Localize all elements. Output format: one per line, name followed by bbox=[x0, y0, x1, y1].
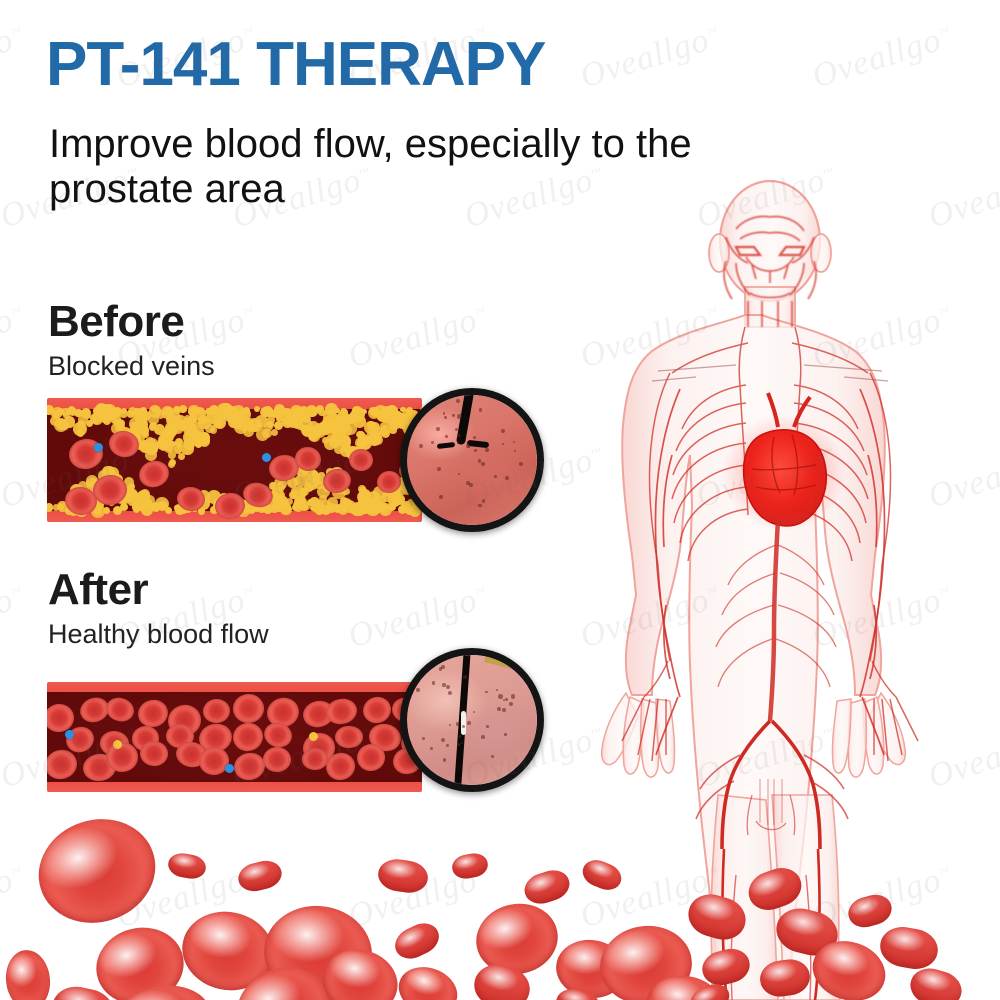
cholesterol-particle bbox=[134, 408, 139, 413]
red-blood-cell bbox=[166, 851, 208, 881]
page-subtitle: Improve blood flow, especially to the pr… bbox=[49, 122, 739, 212]
tissue-speck bbox=[511, 694, 515, 698]
red-blood-cell bbox=[139, 740, 169, 768]
cholesterol-particle bbox=[179, 405, 186, 412]
red-blood-cell bbox=[202, 698, 231, 724]
red-blood-cell bbox=[758, 957, 813, 1000]
infographic-canvas: PT-141 THERAPY Improve blood flow, espec… bbox=[0, 0, 1000, 1000]
cholesterol-particle bbox=[188, 415, 197, 424]
tissue-speck bbox=[497, 707, 501, 711]
red-blood-cell bbox=[232, 751, 268, 784]
cholesterol-particle bbox=[264, 507, 272, 515]
red-blood-cell bbox=[683, 889, 750, 945]
tissue-speck bbox=[505, 698, 508, 701]
cholesterol-particle bbox=[142, 441, 148, 447]
red-blood-cell bbox=[106, 742, 138, 772]
page-title: PT-141 THERAPY bbox=[46, 34, 545, 96]
tissue-speck bbox=[456, 722, 460, 726]
before-section-label: Before Blocked veins bbox=[48, 300, 215, 380]
tissue-speck bbox=[457, 414, 462, 419]
cholesterol-particle bbox=[262, 429, 271, 438]
cholesterol-particle bbox=[149, 423, 156, 430]
tissue-speck bbox=[498, 694, 503, 699]
cholesterol-particle bbox=[57, 408, 64, 415]
white-blood-cell-marker bbox=[225, 764, 234, 773]
after-heading: After bbox=[48, 568, 269, 612]
red-blood-cell bbox=[135, 696, 171, 730]
red-blood-cell bbox=[845, 891, 896, 932]
tissue-speck bbox=[482, 499, 486, 503]
tissue-speck bbox=[502, 708, 506, 712]
lipid-marker bbox=[357, 431, 365, 439]
tissue-speck bbox=[491, 755, 494, 758]
tissue-speck bbox=[486, 725, 489, 728]
cholesterol-particle bbox=[47, 503, 53, 512]
tissue-speck bbox=[452, 414, 454, 416]
blocked-tissue-magnifier bbox=[400, 388, 544, 532]
tissue-speck bbox=[463, 675, 466, 678]
cholesterol-particle bbox=[81, 408, 91, 418]
cholesterol-particle bbox=[381, 409, 389, 417]
tissue-speck bbox=[441, 738, 445, 742]
red-blood-cell bbox=[232, 693, 265, 724]
red-blood-cell bbox=[360, 693, 395, 727]
tissue-speck bbox=[468, 445, 471, 448]
cholesterol-particle bbox=[103, 507, 110, 514]
cholesterol-particle bbox=[359, 487, 367, 495]
tissue-speck bbox=[509, 702, 513, 706]
red-blood-cell bbox=[263, 747, 291, 772]
tissue-speck bbox=[443, 758, 446, 761]
tissue-speck bbox=[479, 408, 482, 411]
red-blood-cell bbox=[390, 917, 444, 964]
tissue-speck bbox=[430, 747, 433, 750]
tissue-speck bbox=[422, 737, 425, 740]
tissue-speck bbox=[416, 688, 420, 692]
cholesterol-particle bbox=[361, 409, 366, 414]
watermark: Oveallgo™ bbox=[808, 18, 957, 97]
cholesterol-particle bbox=[328, 409, 335, 416]
cholesterol-particle bbox=[388, 503, 396, 511]
tissue-speck bbox=[474, 449, 477, 452]
cholesterol-particle bbox=[282, 408, 291, 417]
magnifier-lens bbox=[407, 655, 537, 785]
white-blood-cell-marker bbox=[262, 453, 271, 462]
cholesterol-particle bbox=[159, 432, 172, 445]
red-blood-cell bbox=[103, 694, 136, 724]
tissue-speck bbox=[504, 733, 506, 735]
cholesterol-particle bbox=[116, 420, 123, 427]
cholesterol-particle bbox=[283, 503, 292, 512]
cholesterol-particle bbox=[165, 507, 172, 514]
red-blood-cell bbox=[877, 923, 941, 972]
red-blood-cell bbox=[579, 855, 626, 894]
cholesterol-particle bbox=[199, 415, 206, 422]
cholesterol-particle bbox=[77, 429, 84, 436]
lipid-marker bbox=[399, 417, 407, 425]
cholesterol-particle bbox=[315, 423, 323, 431]
cholesterol-particle bbox=[254, 406, 260, 412]
watermark: Oveallgo™ bbox=[344, 578, 493, 657]
cholesterol-particle bbox=[291, 487, 298, 494]
red-blood-cell bbox=[520, 866, 573, 909]
red-blood-cell bbox=[235, 857, 284, 895]
red-blood-cell bbox=[348, 448, 374, 472]
cholesterol-particle bbox=[173, 425, 182, 434]
cholesterol-particle bbox=[229, 406, 238, 415]
cholesterol-particle bbox=[191, 407, 196, 412]
cholesterol-particle bbox=[176, 442, 183, 449]
cholesterol-particle bbox=[189, 431, 198, 440]
cholesterol-particle bbox=[316, 405, 324, 413]
cholesterol-particle bbox=[342, 409, 348, 415]
cholesterol-particle bbox=[120, 503, 128, 511]
blocked-vessel-illustration bbox=[47, 398, 422, 522]
watermark: Oveallgo™ bbox=[576, 18, 725, 97]
watermark: Oveallgo™ bbox=[344, 298, 493, 377]
tissue-speck bbox=[448, 691, 452, 695]
red-blood-cell bbox=[66, 436, 105, 472]
tissue-highlight bbox=[461, 711, 466, 735]
cholesterol-particle bbox=[342, 507, 348, 513]
cholesterol-particle bbox=[243, 426, 254, 437]
red-blood-cell bbox=[450, 851, 490, 881]
tissue-speck bbox=[457, 441, 459, 443]
tissue-speck bbox=[445, 435, 447, 437]
tissue-speck bbox=[437, 467, 441, 471]
healthy-tissue-magnifier bbox=[400, 648, 544, 792]
tissue-speck bbox=[431, 441, 434, 444]
cholesterol-particle bbox=[352, 406, 361, 415]
red-blood-cell bbox=[376, 857, 430, 896]
after-section-label: After Healthy blood flow bbox=[48, 568, 269, 648]
tissue-speck bbox=[455, 428, 458, 431]
red-blood-cell bbox=[392, 959, 464, 1000]
before-heading: Before bbox=[48, 300, 215, 344]
lipid-marker bbox=[309, 732, 318, 741]
tissue-speck bbox=[467, 721, 471, 725]
red-blood-cell bbox=[25, 804, 169, 937]
tissue-texture bbox=[407, 655, 537, 785]
healthy-vessel-illustration bbox=[47, 682, 422, 792]
tissue-speck bbox=[496, 689, 498, 691]
watermark: Oveallgo™ bbox=[0, 18, 29, 97]
cholesterol-particle bbox=[274, 421, 283, 430]
red-blood-cell bbox=[230, 719, 266, 754]
tissue-speck bbox=[439, 495, 443, 499]
tissue-speck bbox=[485, 448, 488, 451]
cholesterol-particle bbox=[300, 406, 308, 414]
cholesterol-particle bbox=[47, 405, 54, 414]
tissue-speck bbox=[481, 735, 485, 739]
tissue-speck bbox=[478, 504, 482, 508]
vessel-lumen bbox=[47, 692, 422, 782]
cholesterol-particle bbox=[381, 505, 389, 513]
cholesterol-particle bbox=[140, 407, 148, 415]
cholesterol-particle bbox=[151, 502, 161, 512]
cholesterol-particle bbox=[359, 504, 369, 514]
cholesterol-particle bbox=[168, 461, 175, 468]
tissue-speck bbox=[494, 475, 497, 478]
tissue-speck bbox=[441, 665, 445, 669]
lipid-marker bbox=[113, 740, 122, 749]
after-caption: Healthy blood flow bbox=[48, 621, 269, 648]
magnifier-lens bbox=[407, 395, 537, 525]
red-blood-cell bbox=[335, 726, 363, 749]
cholesterol-particle bbox=[57, 504, 63, 510]
cholesterol-particle bbox=[137, 492, 148, 503]
white-blood-cell-marker bbox=[94, 443, 103, 452]
tissue-speck bbox=[459, 735, 461, 737]
cholesterol-particle bbox=[400, 407, 406, 413]
cholesterol-particle bbox=[300, 503, 308, 511]
tissue-texture bbox=[407, 395, 537, 525]
white-blood-cell-marker bbox=[65, 730, 74, 739]
before-caption: Blocked veins bbox=[48, 353, 215, 380]
tissue-speck bbox=[443, 412, 446, 415]
floating-red-blood-cells bbox=[0, 800, 1000, 1000]
red-blood-cell bbox=[136, 457, 173, 491]
tissue-speck bbox=[461, 742, 463, 744]
red-blood-cell bbox=[3, 948, 53, 1000]
tissue-speck bbox=[436, 427, 440, 431]
cholesterol-particle bbox=[271, 429, 278, 436]
watermark: Oveallgo™ bbox=[0, 578, 29, 657]
watermark: Oveallgo™ bbox=[0, 298, 29, 377]
red-blood-cell bbox=[302, 747, 329, 769]
vessel-lumen bbox=[47, 409, 422, 511]
